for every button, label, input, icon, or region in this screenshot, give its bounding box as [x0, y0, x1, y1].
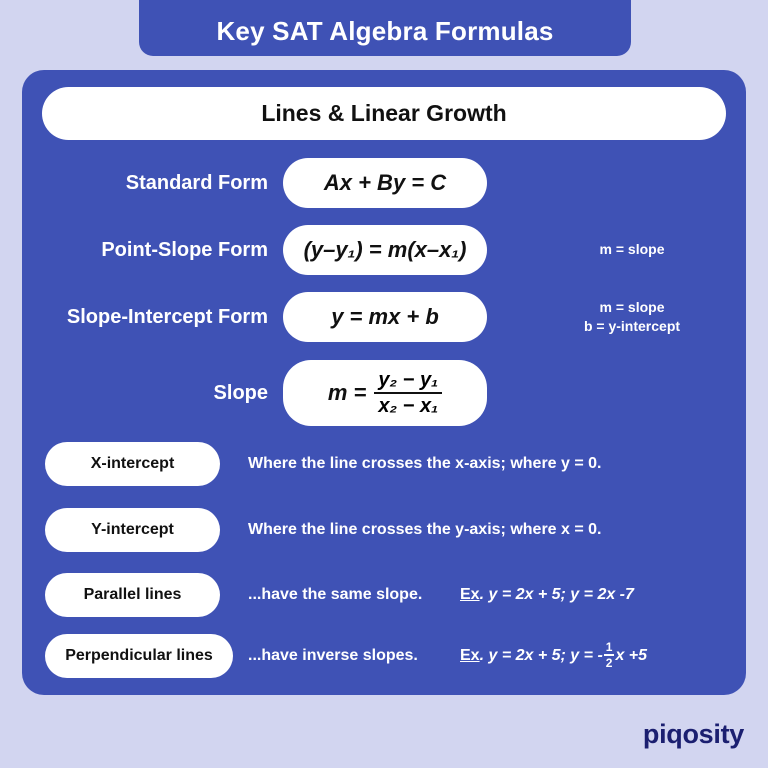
fraction-numerator: y₂ − y₁ [374, 369, 442, 394]
formula-note-line: m = slope [600, 241, 665, 257]
example-expression-post: x +5 [615, 647, 647, 664]
definition-text: ...have the same slope. [248, 573, 422, 617]
formula-expression: Ax + By = C [324, 170, 446, 196]
title-banner: Key SAT Algebra Formulas [139, 0, 631, 56]
definition-term: X-intercept [91, 455, 175, 473]
piqosity-logo: piqosity [643, 719, 744, 750]
example-expression: . y = 2x + 5; y = 2x -7 [480, 586, 634, 603]
section-header-label: Lines & Linear Growth [261, 100, 506, 127]
formula-note-line: b = y-intercept [532, 317, 732, 336]
formula-pill: m = y₂ − y₁ x₂ − x₁ [283, 360, 487, 426]
section-header-pill: Lines & Linear Growth [42, 87, 726, 140]
definition-row-perpendicular-lines: Perpendicular lines ...have inverse slop… [22, 634, 746, 684]
formula-label: Point-Slope Form [22, 222, 268, 278]
example-expression-pre: . y = 2x + 5; y = - [480, 647, 603, 664]
definition-row-x-intercept: X-intercept Where the line crosses the x… [22, 442, 746, 492]
formula-expression: (y–y₁) = m(x–x₁) [304, 237, 467, 263]
definition-term-pill: X-intercept [45, 442, 220, 486]
formula-expression: y = mx + b [331, 304, 439, 330]
definition-example: Ex. y = 2x + 5; y = 2x -7 [460, 573, 634, 617]
fraction-numerator: 1 [604, 641, 615, 656]
definition-text: Where the line crosses the y-axis; where… [248, 508, 601, 552]
formula-pill: (y–y₁) = m(x–x₁) [283, 225, 487, 275]
formula-note-line: m = slope [532, 298, 732, 317]
definition-term-pill: Perpendicular lines [45, 634, 233, 678]
definition-example: Ex. y = 2x + 5; y = -12x +5 [460, 634, 647, 678]
formula-pill: Ax + By = C [283, 158, 487, 208]
formula-row-slope-intercept-form: Slope-Intercept Form y = mx + b m = slop… [22, 289, 746, 345]
formula-row-slope: Slope m = y₂ − y₁ x₂ − x₁ [22, 358, 746, 428]
definition-text: ...have inverse slopes. [248, 634, 418, 678]
formula-label: Slope-Intercept Form [22, 289, 268, 345]
example-prefix: Ex [460, 647, 480, 664]
formula-expression: m = [328, 380, 367, 406]
formula-row-point-slope-form: Point-Slope Form (y–y₁) = m(x–x₁) m = sl… [22, 222, 746, 278]
slope-fraction: y₂ − y₁ x₂ − x₁ [374, 369, 442, 417]
fraction-denominator: 2 [604, 656, 615, 669]
main-panel: Lines & Linear Growth Standard Form Ax +… [22, 70, 746, 695]
definition-row-y-intercept: Y-intercept Where the line crosses the y… [22, 508, 746, 558]
fraction-denominator: x₂ − x₁ [374, 394, 442, 417]
definition-term-pill: Parallel lines [45, 573, 220, 617]
definition-term: Parallel lines [84, 586, 182, 604]
example-fraction: 12 [604, 641, 615, 669]
page-title: Key SAT Algebra Formulas [216, 16, 553, 47]
formula-note: m = slope b = y-intercept [532, 298, 732, 336]
definition-row-parallel-lines: Parallel lines ...have the same slope. E… [22, 573, 746, 623]
definition-term: Perpendicular lines [65, 647, 213, 665]
formula-label: Slope [22, 358, 268, 428]
formula-row-standard-form: Standard Form Ax + By = C [22, 155, 746, 211]
definition-term: Y-intercept [91, 521, 174, 539]
example-prefix: Ex [460, 586, 480, 603]
formula-note: m = slope [532, 240, 732, 259]
formula-label: Standard Form [22, 155, 268, 211]
definition-text: Where the line crosses the x-axis; where… [248, 442, 601, 486]
definition-term-pill: Y-intercept [45, 508, 220, 552]
formula-pill: y = mx + b [283, 292, 487, 342]
